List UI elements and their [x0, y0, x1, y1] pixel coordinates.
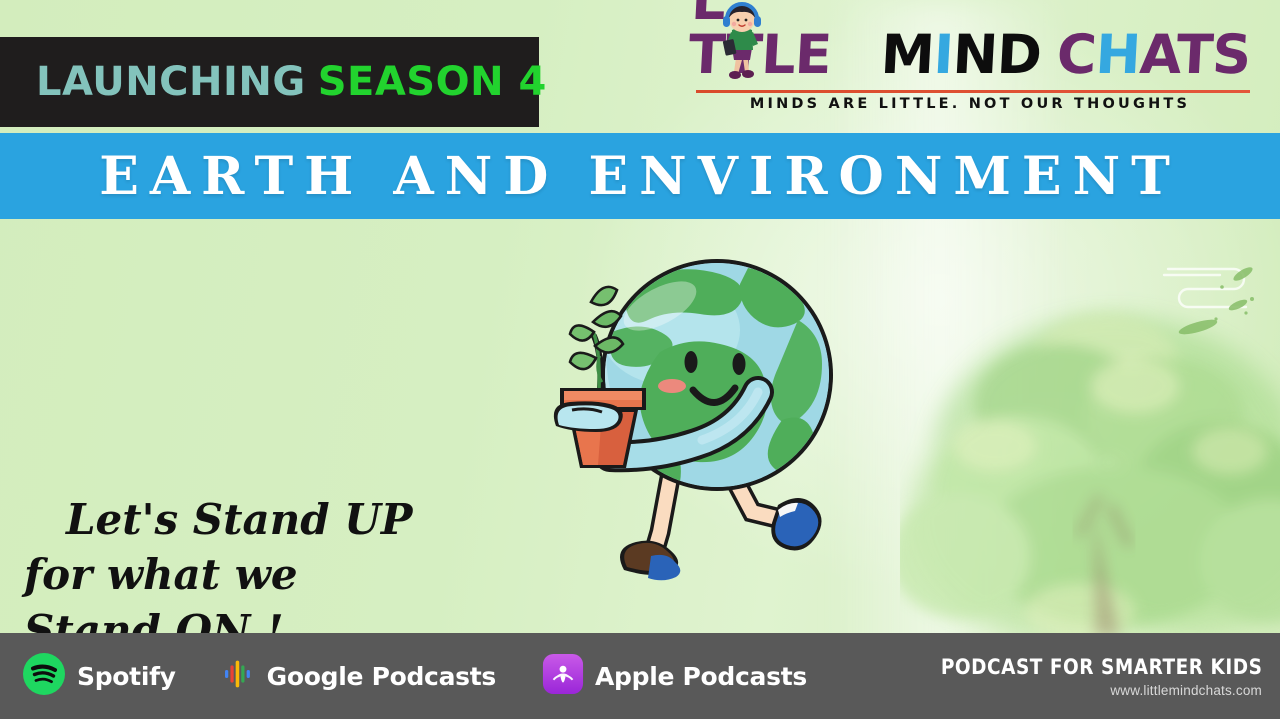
- podcast-season-poster: LAUNCHINGSEASON 4 LTTLE MIND CHATS: [0, 0, 1280, 719]
- footer-branding: PODCAST FOR SMARTER KIDS www.littlemindc…: [897, 633, 1262, 719]
- brand-chats-c: C: [1055, 23, 1097, 86]
- brand-chats-rest: ATS: [1138, 23, 1252, 86]
- platform-spotify-label: Spotify: [77, 662, 176, 691]
- brand-logo[interactable]: LTTLE MIND CHATS: [690, 4, 1250, 122]
- spotify-icon: [22, 652, 66, 701]
- brand-mind-b: ND: [951, 23, 1042, 86]
- google-podcasts-icon: [222, 652, 256, 701]
- brand-wordmark: LTTLE MIND CHATS: [690, 4, 1250, 82]
- launching-banner: LAUNCHINGSEASON 4: [0, 37, 539, 127]
- footer-bar: Spotify Google Podcasts: [0, 633, 1280, 719]
- platform-spotify[interactable]: Spotify: [22, 652, 176, 701]
- platform-apple-podcasts-label: Apple Podcasts: [595, 662, 807, 691]
- topic-title: EARTH AND ENVIRONMENT: [99, 146, 1181, 207]
- script-tagline-line1: Let's Stand UP: [66, 492, 444, 547]
- brand-word-mind: MIND: [880, 28, 1043, 82]
- brand-chats-h: H: [1094, 23, 1142, 86]
- brand-tagline: MINDS ARE LITTLE. NOT OUR THOUGHTS: [690, 96, 1250, 112]
- earth-character-holding-potted-plant-icon: [520, 240, 870, 605]
- apple-podcasts-icon: [542, 653, 584, 700]
- footer-website-url[interactable]: www.littlemindchats.com: [1110, 683, 1262, 698]
- launching-label: LAUNCHING: [36, 59, 306, 105]
- platform-google-podcasts-label: Google Podcasts: [267, 662, 496, 691]
- platform-google-podcasts[interactable]: Google Podcasts: [222, 652, 496, 701]
- topic-banner: EARTH AND ENVIRONMENT: [0, 133, 1280, 219]
- brand-divider-rule: [696, 90, 1250, 93]
- wind-swirl-leaves-icon: [1160, 255, 1270, 350]
- launching-banner-text: LAUNCHINGSEASON 4: [36, 62, 547, 102]
- platform-apple-podcasts[interactable]: Apple Podcasts: [542, 653, 807, 700]
- girl-with-headphones-icon: [712, 2, 770, 82]
- platform-list: Spotify Google Podcasts: [22, 633, 807, 719]
- footer-tagline: PODCAST FOR SMARTER KIDS: [940, 655, 1262, 679]
- season-label: SEASON 4: [318, 59, 547, 105]
- brand-word-chats: CHATS: [1055, 28, 1251, 82]
- brand-mind-a: M: [879, 23, 935, 86]
